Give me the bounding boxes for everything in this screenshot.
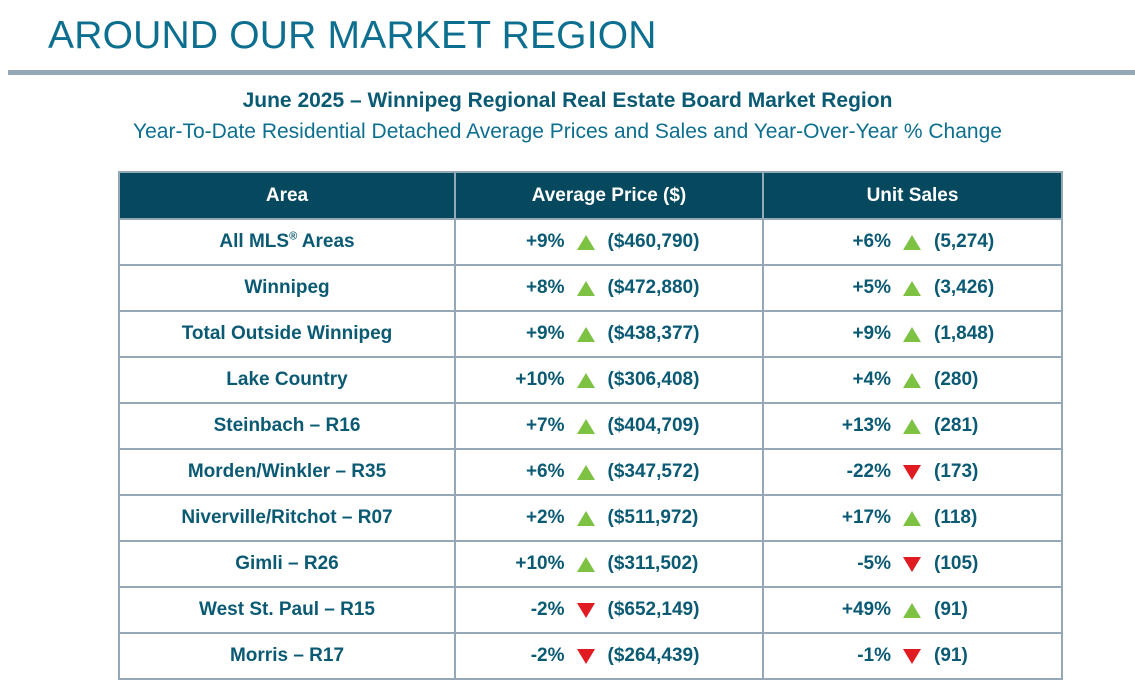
average-price-cell-content: +2%($511,972) — [456, 507, 762, 529]
area-cell: Morden/Winkler – R35 — [119, 449, 455, 495]
unit-sales-value: (280) — [925, 369, 1006, 391]
unit-sales-value: (281) — [925, 415, 1006, 437]
average-price-cell-content: +8%($472,880) — [456, 277, 762, 299]
unit-sales-trend-down-icon — [899, 557, 925, 572]
table-row: All MLS® Areas+9%($460,790)+6%(5,274) — [119, 219, 1062, 265]
unit-sales-cell: +9%(1,848) — [763, 311, 1062, 357]
average-price-change-percent: +7% — [493, 415, 573, 437]
unit-sales-value: (105) — [925, 553, 1006, 575]
market-region-table: Area Average Price ($) Unit Sales All ML… — [118, 171, 1063, 680]
area-label: Total Outside Winnipeg — [182, 323, 393, 344]
unit-sales-cell: +17%(118) — [763, 495, 1062, 541]
unit-sales-cell: +4%(280) — [763, 357, 1062, 403]
triangle-down-icon — [577, 649, 595, 664]
triangle-up-icon — [903, 373, 921, 388]
unit-sales-cell: +49%(91) — [763, 587, 1062, 633]
area-label: Niverville/Ritchot – R07 — [181, 507, 392, 528]
average-price-trend-up-icon — [573, 373, 599, 388]
table-row: Lake Country+10%($306,408)+4%(280) — [119, 357, 1062, 403]
average-price-value: ($306,408) — [599, 369, 726, 391]
average-price-change-percent: +9% — [493, 231, 573, 253]
average-price-trend-up-icon — [573, 419, 599, 434]
column-header-unit-sales: Unit Sales — [763, 172, 1062, 219]
table-row: Morden/Winkler – R35+6%($347,572)-22%(17… — [119, 449, 1062, 495]
average-price-cell-content: -2%($652,149) — [456, 599, 762, 621]
triangle-down-icon — [903, 649, 921, 664]
unit-sales-cell-content: +9%(1,848) — [764, 323, 1061, 345]
table-row: Morris – R17-2%($264,439)-1%(91) — [119, 633, 1062, 679]
page-title: AROUND OUR MARKET REGION — [48, 12, 657, 60]
area-cell: Gimli – R26 — [119, 541, 455, 587]
table-row: West St. Paul – R15-2%($652,149)+49%(91) — [119, 587, 1062, 633]
area-label: Gimli – R26 — [235, 553, 339, 574]
area-cell: West St. Paul – R15 — [119, 587, 455, 633]
average-price-value: ($347,572) — [599, 461, 726, 483]
table-body: All MLS® Areas+9%($460,790)+6%(5,274)Win… — [119, 219, 1062, 679]
unit-sales-cell-content: +6%(5,274) — [764, 231, 1061, 253]
triangle-up-icon — [577, 557, 595, 572]
unit-sales-cell-content: -5%(105) — [764, 553, 1061, 575]
triangle-up-icon — [577, 465, 595, 480]
subtitle-block: June 2025 – Winnipeg Regional Real Estat… — [0, 86, 1135, 148]
unit-sales-value: (1,848) — [925, 323, 1006, 345]
average-price-trend-down-icon — [573, 649, 599, 664]
average-price-trend-down-icon — [573, 603, 599, 618]
area-label: West St. Paul – R15 — [199, 599, 375, 620]
unit-sales-change-percent: +17% — [819, 507, 899, 529]
area-cell: Winnipeg — [119, 265, 455, 311]
unit-sales-trend-down-icon — [899, 649, 925, 664]
unit-sales-cell-content: -22%(173) — [764, 461, 1061, 483]
area-label: Winnipeg — [244, 277, 329, 298]
unit-sales-cell: +5%(3,426) — [763, 265, 1062, 311]
area-cell: Lake Country — [119, 357, 455, 403]
unit-sales-trend-up-icon — [899, 235, 925, 250]
average-price-value: ($460,790) — [599, 231, 726, 253]
unit-sales-cell-content: +5%(3,426) — [764, 277, 1061, 299]
unit-sales-change-percent: +4% — [819, 369, 899, 391]
area-label: All MLS — [219, 231, 289, 252]
average-price-trend-up-icon — [573, 327, 599, 342]
unit-sales-cell: -22%(173) — [763, 449, 1062, 495]
triangle-up-icon — [903, 327, 921, 342]
unit-sales-cell: -1%(91) — [763, 633, 1062, 679]
average-price-value: ($511,972) — [599, 507, 726, 529]
unit-sales-cell: -5%(105) — [763, 541, 1062, 587]
unit-sales-trend-up-icon — [899, 511, 925, 526]
average-price-trend-up-icon — [573, 235, 599, 250]
area-cell: Morris – R17 — [119, 633, 455, 679]
average-price-cell: +9%($460,790) — [455, 219, 763, 265]
unit-sales-trend-up-icon — [899, 603, 925, 618]
unit-sales-value: (5,274) — [925, 231, 1006, 253]
average-price-trend-up-icon — [573, 511, 599, 526]
triangle-down-icon — [577, 603, 595, 618]
unit-sales-value: (3,426) — [925, 277, 1006, 299]
triangle-up-icon — [577, 373, 595, 388]
area-label: Lake Country — [226, 369, 347, 390]
average-price-cell: +8%($472,880) — [455, 265, 763, 311]
title-divider-rule — [8, 70, 1135, 75]
unit-sales-change-percent: -5% — [819, 553, 899, 575]
unit-sales-change-percent: -22% — [819, 461, 899, 483]
average-price-change-percent: +9% — [493, 323, 573, 345]
average-price-cell: +7%($404,709) — [455, 403, 763, 449]
triangle-up-icon — [577, 235, 595, 250]
triangle-up-icon — [903, 281, 921, 296]
unit-sales-value: (91) — [925, 599, 1006, 621]
unit-sales-cell-content: +13%(281) — [764, 415, 1061, 437]
average-price-value: ($311,502) — [599, 553, 726, 575]
average-price-value: ($438,377) — [599, 323, 726, 345]
average-price-cell: -2%($652,149) — [455, 587, 763, 633]
table-header: Area Average Price ($) Unit Sales — [119, 172, 1062, 219]
unit-sales-value: (118) — [925, 507, 1006, 529]
table-header-row: Area Average Price ($) Unit Sales — [119, 172, 1062, 219]
table-row: Niverville/Ritchot – R07+2%($511,972)+17… — [119, 495, 1062, 541]
unit-sales-change-percent: +6% — [819, 231, 899, 253]
average-price-trend-up-icon — [573, 557, 599, 572]
average-price-cell-content: +6%($347,572) — [456, 461, 762, 483]
average-price-change-percent: +8% — [493, 277, 573, 299]
triangle-up-icon — [903, 235, 921, 250]
average-price-cell-content: +10%($311,502) — [456, 553, 762, 575]
unit-sales-cell-content: +17%(118) — [764, 507, 1061, 529]
average-price-cell-content: +7%($404,709) — [456, 415, 762, 437]
average-price-cell-content: +10%($306,408) — [456, 369, 762, 391]
unit-sales-cell: +6%(5,274) — [763, 219, 1062, 265]
subtitle-secondary: Year-To-Date Residential Detached Averag… — [0, 116, 1135, 148]
area-label-suffix: Areas — [297, 231, 354, 252]
average-price-cell: +2%($511,972) — [455, 495, 763, 541]
area-cell: All MLS® Areas — [119, 219, 455, 265]
area-cell: Steinbach – R16 — [119, 403, 455, 449]
average-price-value: ($472,880) — [599, 277, 726, 299]
unit-sales-change-percent: +9% — [819, 323, 899, 345]
unit-sales-trend-up-icon — [899, 281, 925, 296]
unit-sales-value: (173) — [925, 461, 1006, 483]
triangle-up-icon — [577, 511, 595, 526]
unit-sales-trend-up-icon — [899, 327, 925, 342]
triangle-up-icon — [577, 419, 595, 434]
average-price-cell: +10%($306,408) — [455, 357, 763, 403]
unit-sales-cell: +13%(281) — [763, 403, 1062, 449]
average-price-value: ($652,149) — [599, 599, 726, 621]
triangle-up-icon — [903, 419, 921, 434]
average-price-trend-up-icon — [573, 465, 599, 480]
column-header-area: Area — [119, 172, 455, 219]
average-price-cell-content: +9%($438,377) — [456, 323, 762, 345]
average-price-change-percent: +2% — [493, 507, 573, 529]
average-price-change-percent: +10% — [493, 553, 573, 575]
unit-sales-cell-content: +49%(91) — [764, 599, 1061, 621]
area-cell: Niverville/Ritchot – R07 — [119, 495, 455, 541]
triangle-down-icon — [903, 465, 921, 480]
table-row: Winnipeg+8%($472,880)+5%(3,426) — [119, 265, 1062, 311]
average-price-cell: +6%($347,572) — [455, 449, 763, 495]
unit-sales-trend-up-icon — [899, 373, 925, 388]
average-price-value: ($404,709) — [599, 415, 726, 437]
average-price-cell: -2%($264,439) — [455, 633, 763, 679]
column-header-average-price: Average Price ($) — [455, 172, 763, 219]
area-label: Morris – R17 — [230, 645, 344, 666]
average-price-change-percent: +10% — [493, 369, 573, 391]
average-price-change-percent: +6% — [493, 461, 573, 483]
table-row: Total Outside Winnipeg+9%($438,377)+9%(1… — [119, 311, 1062, 357]
triangle-up-icon — [577, 281, 595, 296]
average-price-change-percent: -2% — [493, 599, 573, 621]
area-cell: Total Outside Winnipeg — [119, 311, 455, 357]
average-price-trend-up-icon — [573, 281, 599, 296]
unit-sales-cell-content: +4%(280) — [764, 369, 1061, 391]
average-price-cell: +10%($311,502) — [455, 541, 763, 587]
registered-trademark-icon: ® — [289, 231, 297, 243]
unit-sales-change-percent: +49% — [819, 599, 899, 621]
unit-sales-change-percent: +5% — [819, 277, 899, 299]
unit-sales-trend-up-icon — [899, 419, 925, 434]
triangle-up-icon — [903, 511, 921, 526]
subtitle-primary: June 2025 – Winnipeg Regional Real Estat… — [0, 86, 1135, 116]
table-row: Steinbach – R16+7%($404,709)+13%(281) — [119, 403, 1062, 449]
table-row: Gimli – R26+10%($311,502)-5%(105) — [119, 541, 1062, 587]
triangle-up-icon — [903, 603, 921, 618]
triangle-up-icon — [577, 327, 595, 342]
average-price-cell: +9%($438,377) — [455, 311, 763, 357]
unit-sales-change-percent: +13% — [819, 415, 899, 437]
area-label: Steinbach – R16 — [214, 415, 361, 436]
unit-sales-trend-down-icon — [899, 465, 925, 480]
average-price-cell-content: +9%($460,790) — [456, 231, 762, 253]
area-label: Morden/Winkler – R35 — [188, 461, 386, 482]
triangle-down-icon — [903, 557, 921, 572]
